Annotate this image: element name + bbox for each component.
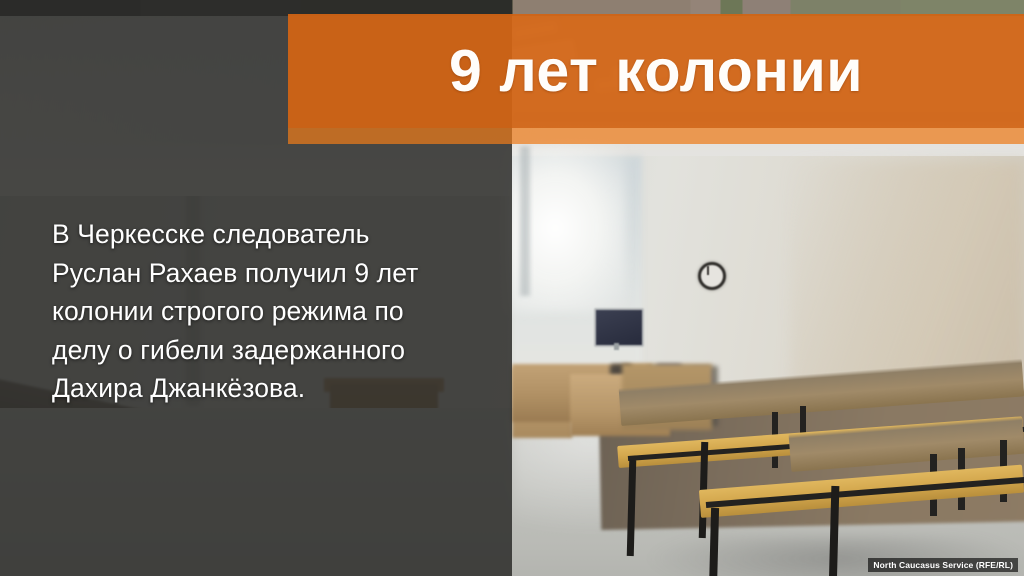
photo-credit: North Caucasus Service (RFE/RL) [868, 558, 1018, 572]
news-graphic-card: 9 лет колонии В Черкесске следователь Ру… [0, 0, 1024, 576]
headline-text: 9 лет колонии [288, 14, 1024, 128]
wall-clock-hand [707, 266, 709, 275]
headline-banner-strip [288, 128, 1024, 144]
desk-monitor [594, 308, 644, 347]
window-frame [520, 146, 530, 296]
bench-leg [709, 508, 719, 576]
wall-clock [698, 262, 726, 290]
body-paragraph: В Черкесске следователь Руслан Рахаев по… [52, 215, 462, 408]
desk-monitor-stand [614, 343, 619, 350]
